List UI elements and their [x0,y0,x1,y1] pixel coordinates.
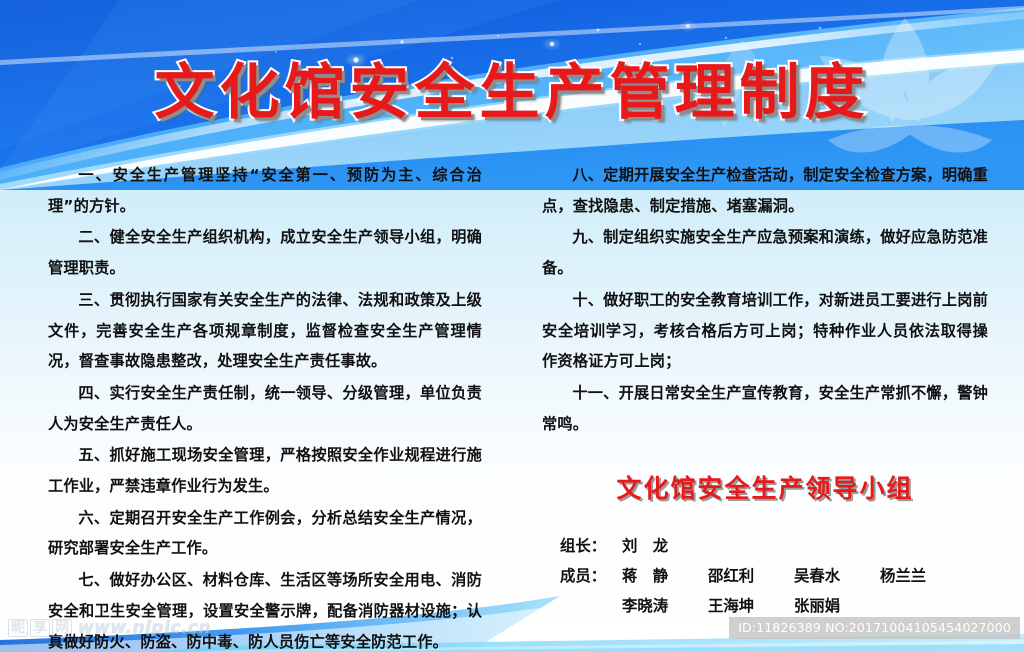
leadership-group-block: 文化馆安全生产领导小组 组长： 刘 龙 成员： 蒋 静 邵红利 吴春水 杨兰兰 [542,469,988,621]
member-name: 邵红利 [708,561,794,591]
regulation-paragraph: 五、抓好施工现场安全管理，严格按照安全作业规程进行施工作业，严禁违章作业行为发生… [48,440,482,501]
regulation-paragraph: 九、制定组织实施安全生产应急预案和演练，做好应急防范准备。 [542,222,988,283]
regulation-paragraph: 三、贯彻执行国家有关安全生产的法律、法规和政策及上级文件，完善安全生产各项规章制… [48,285,482,377]
left-column: 一、安全生产管理坚持“安全第一、预防为主、综合治理”的方针。 二、健全安全生产组… [0,152,512,622]
leadership-group-heading: 文化馆安全生产领导小组 [542,469,988,505]
regulation-paragraph: 七、做好办公区、材料仓库、生活区等场所安全用电、消防安全和卫生安全管理，设置安全… [48,565,482,652]
member-name: 杨兰兰 [880,561,966,591]
member-name: 吴春水 [794,561,880,591]
leadership-members-row-1: 成员： 蒋 静 邵红利 吴春水 杨兰兰 [542,561,988,591]
member-label-spacer [560,591,622,621]
regulation-paragraph: 一、安全生产管理坚持“安全第一、预防为主、综合治理”的方针。 [48,160,482,221]
member-name: 李晓涛 [622,591,708,621]
regulation-paragraph: 八、定期开展安全生产检查活动，制定安全检查方案，明确重点，查找隐患、制定措施、堵… [542,160,988,221]
regulation-body: 一、安全生产管理坚持“安全第一、预防为主、综合治理”的方针。 二、健全安全生产组… [0,152,1024,622]
leadership-members-row-2: 李晓涛 王海坤 张丽娟 [542,591,988,621]
member-name: 蒋 静 [622,561,708,591]
leader-label: 组长： [560,531,622,561]
leadership-leader-row: 组长： 刘 龙 [542,531,988,561]
right-column: 八、定期开展安全生产检查活动，制定安全检查方案，明确重点，查找隐患、制定措施、堵… [512,152,1024,622]
member-label: 成员： [560,561,622,591]
poster-canvas: 文化馆安全生产管理制度 一、安全生产管理坚持“安全第一、预防为主、综合治理”的方… [0,0,1024,652]
regulation-paragraph: 四、实行安全生产责任制，统一领导、分级管理，单位负责人为安全生产责任人。 [48,378,482,439]
member-name: 张丽娟 [794,591,880,621]
leader-names: 刘 龙 [622,531,668,561]
regulation-paragraph: 六、定期召开安全生产工作例会，分析总结安全生产情况，研究部署安全生产工作。 [48,503,482,564]
member-name: 王海坤 [708,591,794,621]
regulation-paragraph: 十一、开展日常安全生产宣传教育，安全生产常抓不懈，警钟常鸣。 [542,378,988,439]
member-names-1: 蒋 静 邵红利 吴春水 杨兰兰 [622,561,966,591]
regulation-paragraph: 十、做好职工的安全教育培训工作，对新进员工要进行上岗前安全培训学习，考核合格后方… [542,285,988,377]
regulation-paragraph: 二、健全安全生产组织机构，成立安全生产领导小组，明确管理职责。 [48,222,482,283]
leader-name: 刘 龙 [622,531,668,561]
member-names-2: 李晓涛 王海坤 张丽娟 [622,591,880,621]
